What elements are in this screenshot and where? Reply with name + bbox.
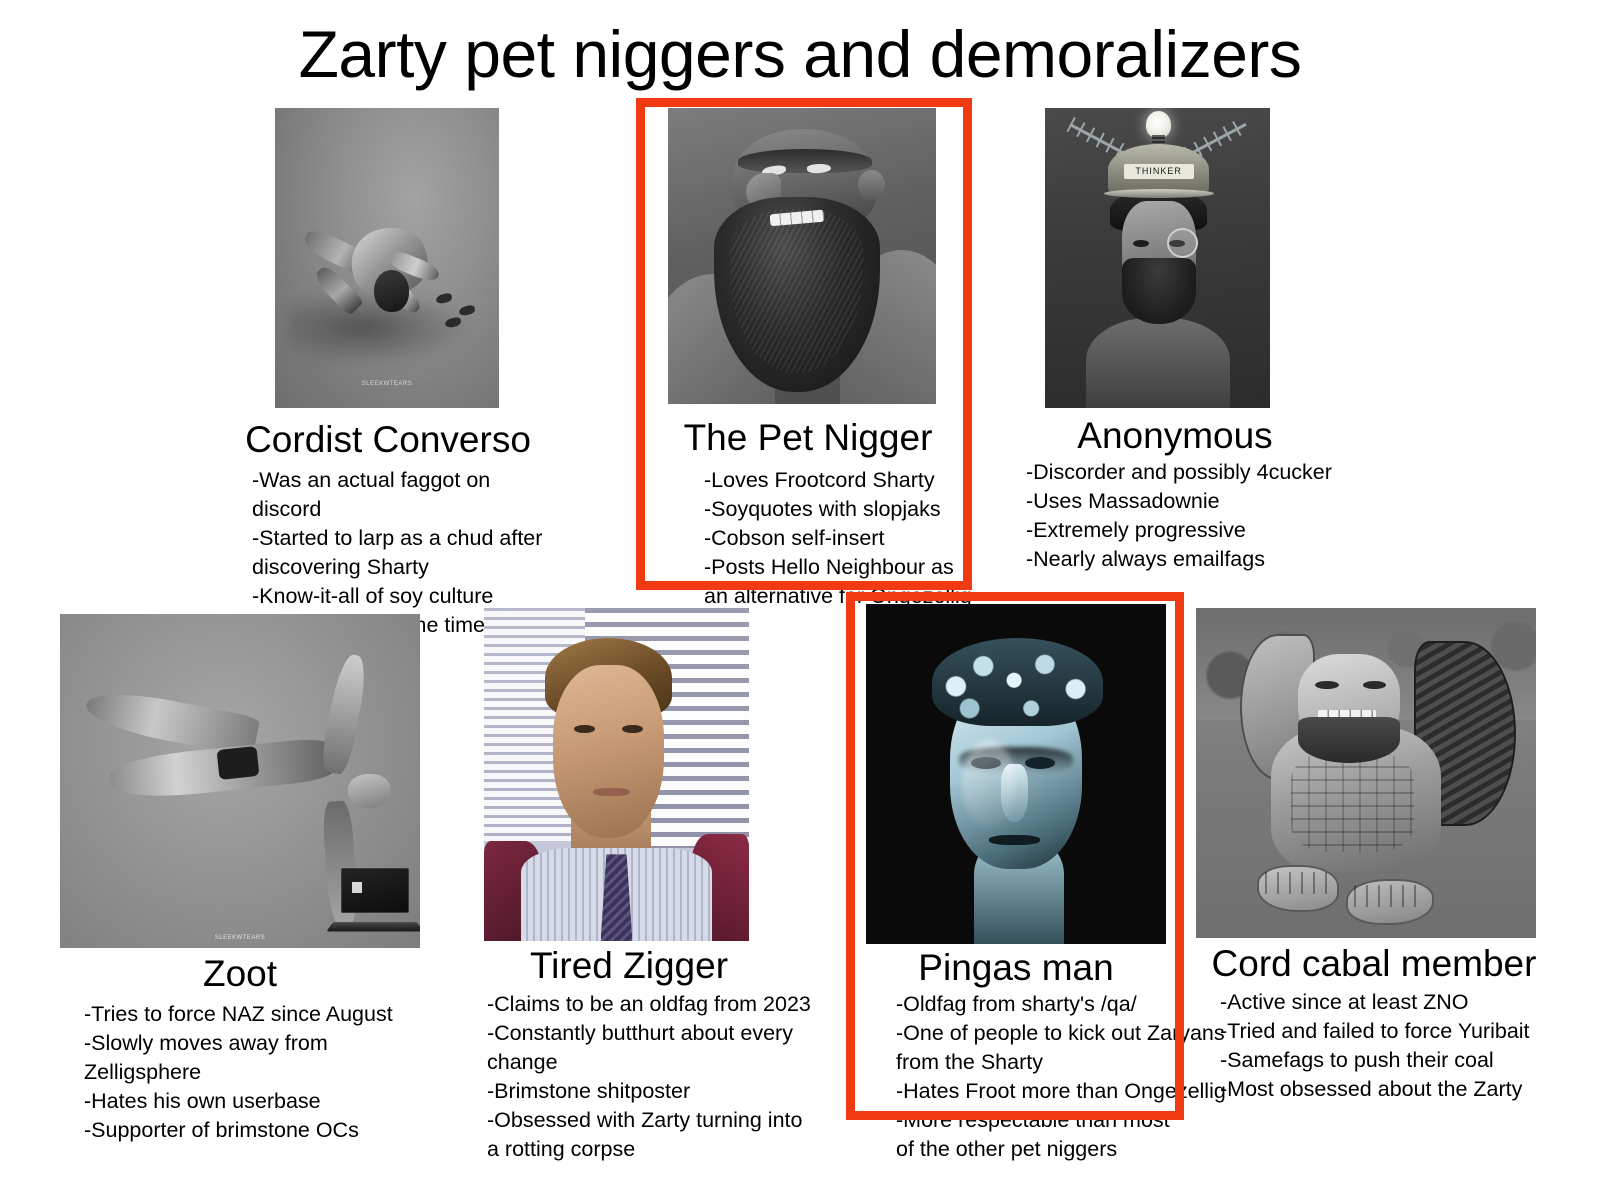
bullet: -Most obsessed about the Zarty xyxy=(1220,1075,1560,1104)
anonymous-helmet-label: THINKER xyxy=(1124,164,1194,179)
cordist-converso-image: SLEEKWTEARS xyxy=(275,108,499,408)
panel-anonymous[interactable]: THINKER Anonymous -Discorder and possibl… xyxy=(1010,108,1340,578)
zoot-image-watermark: SLEEKWTEARS xyxy=(60,935,420,941)
bullet: -Loves Frootcord Sharty xyxy=(704,466,984,495)
bullet: discovering Sharty xyxy=(252,553,548,582)
bullet: -More respectable than most xyxy=(896,1106,1226,1135)
the-pet-nigger-image xyxy=(668,108,936,404)
bullet: -Tries to force NAZ since August xyxy=(84,1000,434,1029)
panel-tired-zigger[interactable]: Tired Zigger -Claims to be an oldfag fro… xyxy=(484,608,824,1128)
bullet: -Supporter of brimstone OCs xyxy=(84,1116,434,1145)
slide-canvas: Zarty pet niggers and demoralizers SLEEK… xyxy=(0,0,1600,1191)
the-pet-nigger-bullets: -Loves Frootcord Sharty -Soyquotes with … xyxy=(704,466,984,611)
bullet: -Discorder and possibly 4cucker xyxy=(1026,458,1346,487)
bullet: -Nearly always emailfags xyxy=(1026,545,1346,574)
bullet: -Soyquotes with slopjaks xyxy=(704,495,984,524)
bullet: -Posts Hello Neighbour as xyxy=(704,553,984,582)
panel-zoot[interactable]: SLEEKWTEARS Zoot -Tries to force NAZ sin… xyxy=(60,614,430,1124)
zoot-bullets: -Tries to force NAZ since August -Slowly… xyxy=(84,1000,434,1145)
panel-pingas-man[interactable]: Pingas man -Oldfag from sharty's /qa/ -O… xyxy=(856,604,1186,1124)
pingas-man-image xyxy=(866,604,1166,944)
the-pet-nigger-title: The Pet Nigger xyxy=(658,416,958,460)
bullet: -Obsessed with Zarty turning into xyxy=(487,1106,827,1135)
pingas-man-bullets: -Oldfag from sharty's /qa/ -One of peopl… xyxy=(896,990,1226,1164)
bullet: of the other pet niggers xyxy=(896,1135,1226,1164)
bullet: -Hates Froot more than Ongezellig xyxy=(896,1077,1226,1106)
anonymous-title: Anonymous xyxy=(1010,414,1340,458)
bullet: a rotting corpse xyxy=(487,1135,827,1164)
bullet: -Cobson self-insert xyxy=(704,524,984,553)
bullet: -Brimstone shitposter xyxy=(487,1077,827,1106)
bullet: -Know-it-all of soy culture xyxy=(252,582,548,611)
bullet: -Started to larp as a chud after xyxy=(252,524,548,553)
zoot-image: SLEEKWTEARS xyxy=(60,614,420,948)
bullet: from the Sharty xyxy=(896,1048,1226,1077)
pingas-man-title: Pingas man xyxy=(856,946,1176,990)
panel-cord-cabal-member[interactable]: Cord cabal member -Active since at least… xyxy=(1196,608,1556,1108)
page-title: Zarty pet niggers and demoralizers xyxy=(0,16,1600,92)
bullet: -Constantly butthurt about every xyxy=(487,1019,827,1048)
panel-the-pet-nigger[interactable]: The Pet Nigger -Loves Frootcord Sharty -… xyxy=(648,108,968,588)
bullet: -Uses Massadownie xyxy=(1026,487,1346,516)
cordist-converso-title: Cordist Converso xyxy=(242,418,534,462)
bullet: -Oldfag from sharty's /qa/ xyxy=(896,990,1226,1019)
tired-zigger-title: Tired Zigger xyxy=(484,944,774,988)
cord-cabal-member-title: Cord cabal member xyxy=(1196,942,1552,986)
bullet: -Slowly moves away from Zelligsphere xyxy=(84,1029,434,1087)
bullet: -Extremely progressive xyxy=(1026,516,1346,545)
cord-cabal-member-bullets: -Active since at least ZNO -Tried and fa… xyxy=(1220,988,1560,1104)
cord-cabal-member-image xyxy=(1196,608,1536,938)
bullet: -Was an actual faggot on discord xyxy=(252,466,548,524)
bullet: -Active since at least ZNO xyxy=(1220,988,1560,1017)
bullet: -Samefags to push their coal xyxy=(1220,1046,1560,1075)
panel-cordist-converso[interactable]: SLEEKWTEARS Cordist Converso -Was an act… xyxy=(228,108,548,588)
bullet: -Hates his own userbase xyxy=(84,1087,434,1116)
zoot-title: Zoot xyxy=(60,952,420,996)
bullet: -Claims to be an oldfag from 2023 xyxy=(487,990,827,1019)
bullet: -One of people to kick out Zaryans xyxy=(896,1019,1226,1048)
anonymous-bullets: -Discorder and possibly 4cucker -Uses Ma… xyxy=(1026,458,1346,574)
tired-zigger-image xyxy=(484,608,749,941)
anonymous-image: THINKER xyxy=(1045,108,1270,408)
bullet: change xyxy=(487,1048,827,1077)
tired-zigger-bullets: -Claims to be an oldfag from 2023 -Const… xyxy=(487,990,827,1164)
cordist-converso-image-watermark: SLEEKWTEARS xyxy=(275,381,499,387)
bullet: -Tried and failed to force Yuribait xyxy=(1220,1017,1560,1046)
